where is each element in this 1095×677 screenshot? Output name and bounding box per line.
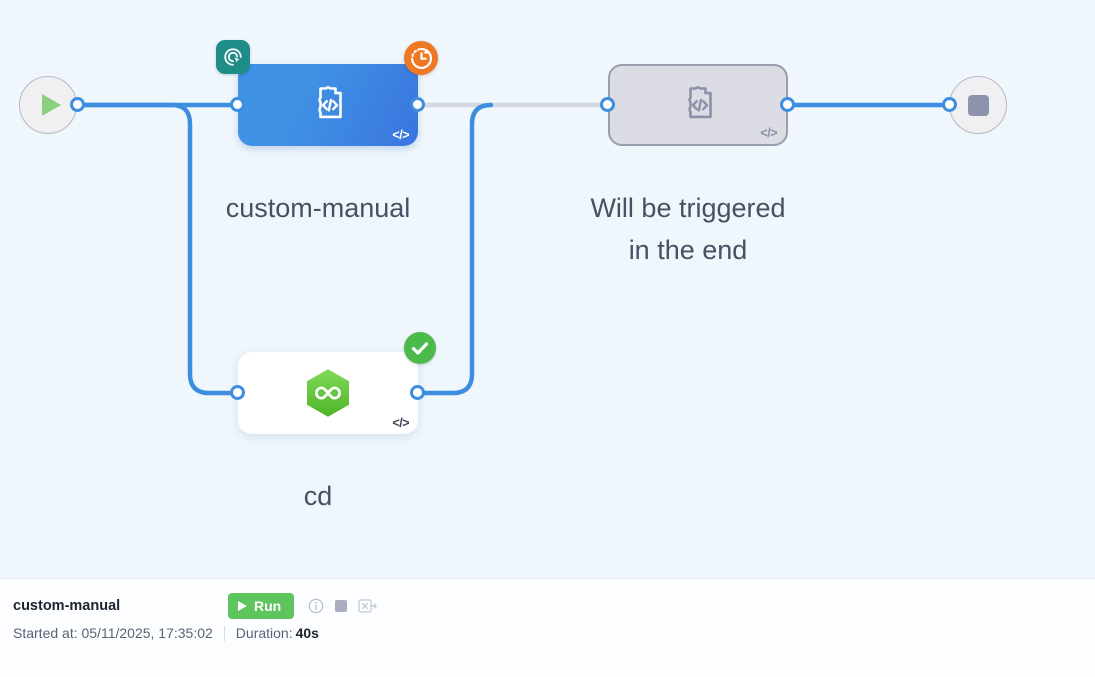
run-button-label: Run	[254, 598, 281, 614]
skip-icon[interactable]	[358, 598, 378, 614]
duration-value: 40s	[296, 625, 319, 641]
node-corner-code-mark: </>	[392, 416, 409, 430]
stop-icon[interactable]	[334, 599, 348, 613]
play-icon	[238, 601, 247, 611]
run-action-icons	[308, 598, 378, 614]
node-custom-manual-caption: custom-manual	[178, 187, 458, 229]
success-badge[interactable]	[404, 332, 436, 364]
manual-trigger-badge[interactable]	[216, 40, 250, 74]
run-details-header: custom-manual Run	[13, 593, 378, 619]
puzzle-code-icon	[302, 79, 354, 131]
meta-divider	[224, 626, 225, 641]
node-cd-output-port[interactable]	[410, 385, 425, 400]
start-node-output-port[interactable]	[70, 97, 85, 112]
node-cd-caption: cd	[238, 475, 398, 517]
node-will-be-triggered-caption: Will be triggered in the end	[548, 187, 828, 271]
node-corner-code-mark: </>	[392, 128, 409, 142]
start-node[interactable]	[19, 76, 77, 134]
timer-badge[interactable]	[404, 41, 438, 75]
node-cd[interactable]: </>	[238, 352, 418, 434]
check-circle-icon	[404, 332, 436, 364]
run-button[interactable]: Run	[228, 593, 294, 619]
pipeline-canvas[interactable]: </> custom-manual	[0, 0, 1095, 578]
play-icon	[42, 94, 61, 116]
node-will-be-triggered-output-port[interactable]	[780, 97, 795, 112]
node-will-be-triggered-in-the-end[interactable]: </>	[608, 64, 788, 146]
node-cd-input-port[interactable]	[230, 385, 245, 400]
node-corner-code-mark: </>	[760, 126, 777, 140]
pipeline-view: </> custom-manual	[0, 0, 1095, 677]
node-custom-manual-input-port[interactable]	[230, 97, 245, 112]
end-node[interactable]	[949, 76, 1007, 134]
cursor-target-icon	[222, 46, 244, 68]
node-custom-manual[interactable]: </>	[238, 64, 418, 146]
started-at-label: Started at: 05/11/2025, 17:35:02	[13, 625, 213, 641]
info-icon[interactable]	[308, 598, 324, 614]
run-details-panel: custom-manual Run	[0, 578, 1095, 677]
node-custom-manual-output-port[interactable]	[410, 97, 425, 112]
run-details-meta: Started at: 05/11/2025, 17:35:02 Duratio…	[13, 625, 319, 641]
node-will-be-triggered-input-port[interactable]	[600, 97, 615, 112]
puzzle-code-icon	[672, 79, 724, 131]
run-title: custom-manual	[13, 598, 228, 614]
clock-history-icon	[409, 46, 434, 71]
edge-start-to-cd	[78, 105, 238, 393]
duration-label: Duration:	[236, 625, 293, 641]
end-node-input-port[interactable]	[942, 97, 957, 112]
hexagon-infinity-icon	[302, 367, 354, 419]
stop-square-icon	[968, 95, 989, 116]
edge-layer	[0, 0, 1095, 578]
